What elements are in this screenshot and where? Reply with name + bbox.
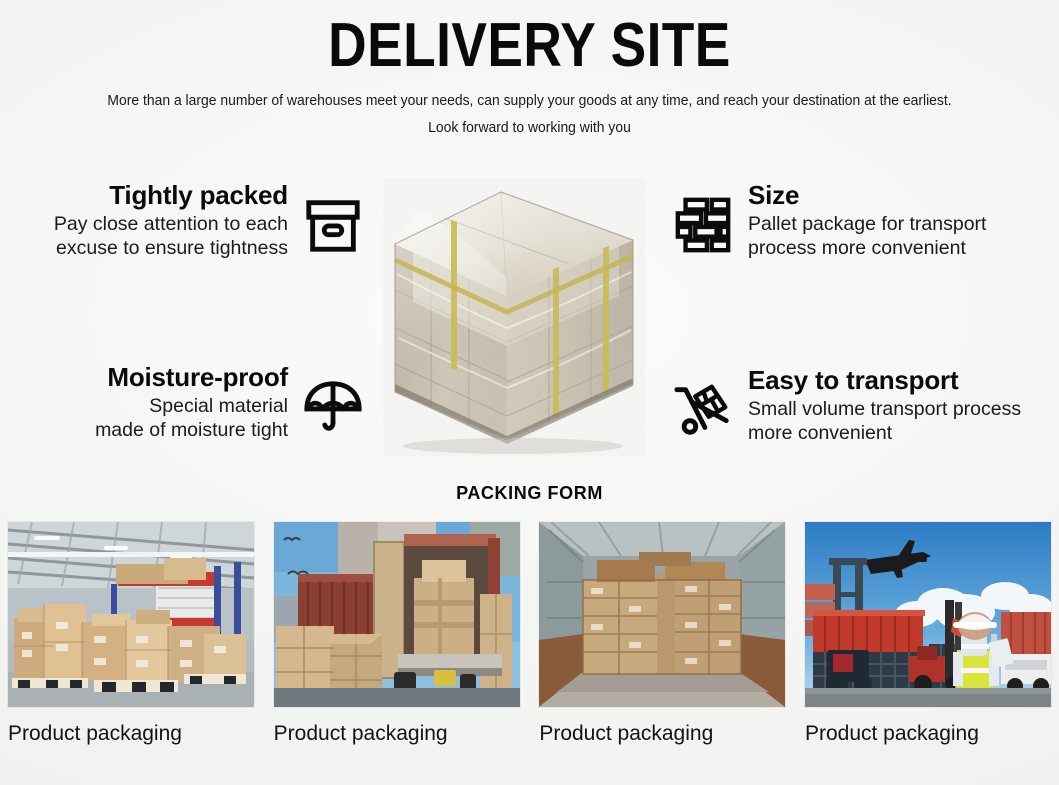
packing-form-heading: PACKING FORM (0, 483, 1059, 504)
wrapped-pallet-photo (383, 178, 645, 456)
feature-desc-line-2: made of moisture tight (6, 418, 288, 442)
gallery-item[interactable]: Product packaging (274, 522, 520, 747)
feature-description: Pallet package for transport process mor… (748, 212, 1053, 260)
feature-text: Easy to transport Small volume transport… (748, 365, 1053, 445)
feature-description: Small volume transport process more conv… (748, 397, 1053, 445)
brick-wall-icon (672, 194, 734, 256)
feature-moisture-proof: Moisture-proof Special material made of … (0, 362, 364, 442)
feature-text: Tightly packed Pay close attention to ea… (6, 180, 288, 260)
feature-desc-line-2: excuse to ensure tightness (6, 236, 288, 260)
feature-desc-line-2: process more convenient (748, 236, 1053, 260)
feature-title: Easy to transport (748, 365, 1053, 395)
gallery-item[interactable]: Product packaging (8, 522, 254, 747)
feature-title: Moisture-proof (6, 362, 288, 392)
gallery-item[interactable]: Product packaging (539, 522, 785, 747)
subtitle-line-2: Look forward to working with you (21, 115, 1038, 142)
packing-gallery: Product packaging (0, 522, 1059, 747)
subtitle-line-1: More than a large number of warehouses m… (107, 93, 951, 109)
hand-truck-icon (672, 379, 734, 441)
container-interior-photo[interactable] (539, 522, 785, 707)
feature-size: Size Pallet package for transport proces… (672, 180, 1059, 260)
feature-tightly-packed: Tightly packed Pay close attention to ea… (0, 180, 364, 260)
infographic-page: DELIVERY SITE More than a large number o… (0, 0, 1059, 785)
feature-title: Size (748, 180, 1053, 210)
page-title: DELIVERY SITE (74, 14, 985, 78)
feature-text: Moisture-proof Special material made of … (6, 362, 288, 442)
container-loading-photo[interactable] (274, 522, 520, 707)
feature-title: Tightly packed (6, 180, 288, 210)
feature-text: Size Pallet package for transport proces… (748, 180, 1053, 260)
feature-desc-line-1: Small volume transport process (748, 398, 1021, 420)
port-logistics-photo[interactable] (805, 522, 1051, 707)
gallery-item[interactable]: Product packaging (805, 522, 1051, 747)
feature-description: Special material made of moisture tight (6, 394, 288, 442)
feature-desc-line-1: Pay close attention to each (54, 213, 288, 235)
header: DELIVERY SITE More than a large number o… (0, 0, 1059, 142)
gallery-caption: Product packaging (805, 721, 1051, 747)
gallery-caption: Product packaging (274, 721, 520, 747)
feature-desc-line-1: Special material (149, 395, 288, 417)
page-subtitle: More than a large number of warehouses m… (21, 88, 1038, 142)
feature-description: Pay close attention to each excuse to en… (6, 212, 288, 260)
feature-desc-line-1: Pallet package for transport (748, 213, 986, 235)
warehouse-photo[interactable] (8, 522, 254, 707)
umbrella-icon (302, 376, 364, 438)
feature-easy-to-transport: Easy to transport Small volume transport… (672, 365, 1059, 445)
gallery-caption: Product packaging (8, 721, 254, 747)
feature-desc-line-2: more convenient (748, 421, 1053, 445)
archive-box-icon (302, 194, 364, 256)
gallery-caption: Product packaging (539, 721, 785, 747)
